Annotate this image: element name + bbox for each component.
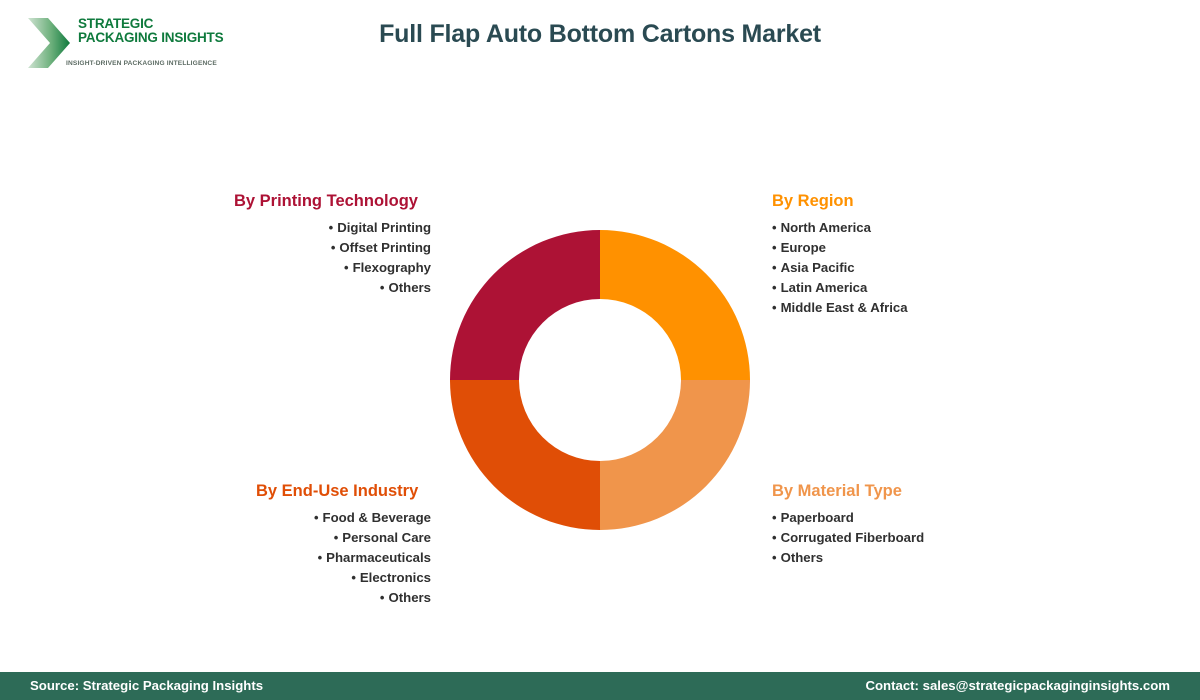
- list-item: •Food & Beverage: [256, 508, 431, 528]
- list-item-label: Electronics: [360, 570, 431, 585]
- donut-slice-end-use-industry[interactable]: [450, 380, 600, 530]
- list-item-label: Europe: [781, 240, 826, 255]
- list-item-label: Food & Beverage: [323, 510, 431, 525]
- bullet-icon: •: [314, 510, 319, 525]
- list-item: •Others: [256, 588, 431, 608]
- list-item: •Personal Care: [256, 528, 431, 548]
- bullet-icon: •: [344, 260, 349, 275]
- list-item: •Others: [234, 278, 431, 298]
- bullet-icon: •: [772, 510, 777, 525]
- list-item: •Corrugated Fiberboard: [772, 528, 1002, 548]
- list-item: •Latin America: [772, 278, 1002, 298]
- segment-block-end-use-industry: By End-Use Industry •Food & Beverage •Pe…: [256, 482, 431, 608]
- list-item-label: Asia Pacific: [781, 260, 855, 275]
- bullet-icon: •: [351, 570, 356, 585]
- segment-block-region: By Region •North America •Europe •Asia P…: [772, 192, 1002, 318]
- segment-title-material-type: By Material Type: [772, 482, 1002, 501]
- segment-list-printing-technology: •Digital Printing •Offset Printing •Flex…: [234, 218, 431, 298]
- list-item: •Electronics: [256, 568, 431, 588]
- bullet-icon: •: [318, 550, 323, 565]
- segment-title-end-use-industry: By End-Use Industry: [256, 482, 431, 501]
- footer-source: Source: Strategic Packaging Insights: [30, 672, 263, 700]
- donut-chart: [450, 230, 750, 530]
- bullet-icon: •: [380, 280, 385, 295]
- list-item-label: Paperboard: [781, 510, 854, 525]
- segment-list-end-use-industry: •Food & Beverage •Personal Care •Pharmac…: [256, 508, 431, 608]
- bullet-icon: •: [329, 220, 334, 235]
- list-item-label: Pharmaceuticals: [326, 550, 431, 565]
- page-title: Full Flap Auto Bottom Cartons Market: [0, 20, 1200, 49]
- bullet-icon: •: [334, 530, 339, 545]
- list-item: •Offset Printing: [234, 238, 431, 258]
- footer-bar: Source: Strategic Packaging Insights Con…: [0, 672, 1200, 700]
- segment-block-printing-technology: By Printing Technology •Digital Printing…: [234, 192, 431, 298]
- list-item-label: Middle East & Africa: [781, 300, 908, 315]
- list-item-label: Digital Printing: [337, 220, 431, 235]
- list-item-label: Others: [388, 590, 431, 605]
- segment-list-material-type: •Paperboard •Corrugated Fiberboard •Othe…: [772, 508, 1002, 568]
- bullet-icon: •: [772, 300, 777, 315]
- list-item: •Digital Printing: [234, 218, 431, 238]
- list-item-label: Flexography: [353, 260, 431, 275]
- list-item-label: Offset Printing: [339, 240, 431, 255]
- list-item: •Flexography: [234, 258, 431, 278]
- donut-chart-svg: [450, 230, 750, 530]
- bullet-icon: •: [772, 550, 777, 565]
- segment-block-material-type: By Material Type •Paperboard •Corrugated…: [772, 482, 1002, 568]
- bullet-icon: •: [772, 220, 777, 235]
- donut-slice-region[interactable]: [600, 230, 750, 380]
- header: STRATEGIC PACKAGING INSIGHTS INSIGHT-DRI…: [0, 0, 1200, 90]
- bullet-icon: •: [772, 260, 777, 275]
- footer-contact[interactable]: Contact: sales@strategicpackaginginsight…: [865, 672, 1170, 700]
- list-item: •Europe: [772, 238, 1002, 258]
- bullet-icon: •: [772, 240, 777, 255]
- list-item: •Asia Pacific: [772, 258, 1002, 278]
- bullet-icon: •: [331, 240, 336, 255]
- donut-slice-material-type[interactable]: [600, 380, 750, 530]
- list-item: •Others: [772, 548, 1002, 568]
- bullet-icon: •: [380, 590, 385, 605]
- donut-slice-printing-technology[interactable]: [450, 230, 600, 380]
- bullet-icon: •: [772, 530, 777, 545]
- list-item-label: Corrugated Fiberboard: [781, 530, 925, 545]
- list-item-label: Others: [388, 280, 431, 295]
- segment-title-region: By Region: [772, 192, 1002, 211]
- bullet-icon: •: [772, 280, 777, 295]
- segment-list-region: •North America •Europe •Asia Pacific •La…: [772, 218, 1002, 318]
- list-item: •North America: [772, 218, 1002, 238]
- list-item-label: Others: [781, 550, 824, 565]
- list-item-label: North America: [781, 220, 871, 235]
- list-item: •Pharmaceuticals: [256, 548, 431, 568]
- segment-title-printing-technology: By Printing Technology: [234, 192, 431, 211]
- list-item: •Middle East & Africa: [772, 298, 1002, 318]
- logo-tagline: INSIGHT-DRIVEN PACKAGING INTELLIGENCE: [66, 60, 217, 67]
- list-item: •Paperboard: [772, 508, 1002, 528]
- list-item-label: Personal Care: [342, 530, 431, 545]
- list-item-label: Latin America: [781, 280, 868, 295]
